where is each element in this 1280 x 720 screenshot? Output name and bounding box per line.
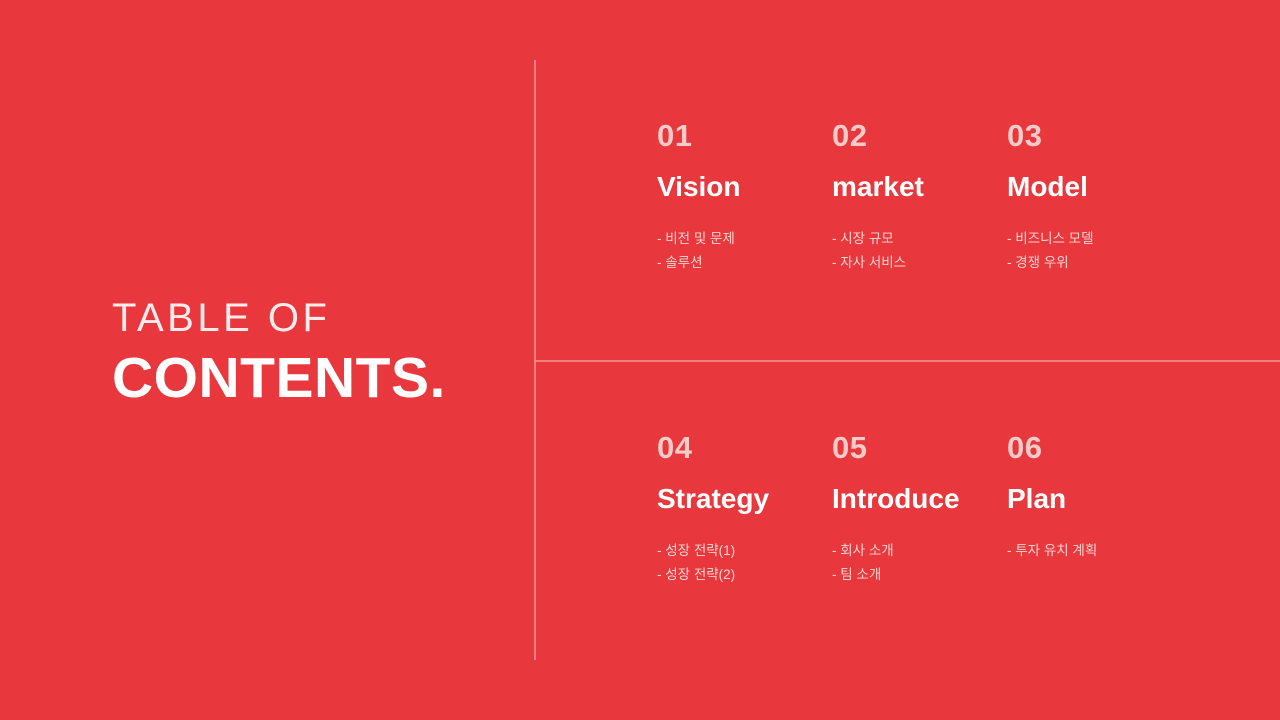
toc-subitem: - 비전 및 문제 [657, 227, 832, 251]
page-title-line-2: CONTENTS. [112, 347, 512, 411]
page-title: TABLE OF CONTENTS. [112, 296, 512, 411]
toc-subitem: - 경쟁 우위 [1007, 251, 1182, 275]
contents-grid: 01 Vision - 비전 및 문제 - 솔루션 02 market - 시장… [657, 120, 1257, 620]
toc-number-01: 01 [657, 120, 832, 151]
toc-sublist-02: - 시장 규모 - 자사 서비스 [832, 227, 1007, 275]
toc-subitem: - 성장 전략(1) [657, 539, 832, 563]
toc-number-02: 02 [832, 120, 1007, 151]
toc-item-01[interactable]: 01 Vision - 비전 및 문제 - 솔루션 [657, 120, 832, 275]
toc-item-03[interactable]: 03 Model - 비즈니스 모델 - 경쟁 우위 [1007, 120, 1182, 275]
toc-item-06[interactable]: 06 Plan - 투자 유치 계획 [1007, 432, 1182, 587]
toc-subitem: - 투자 유치 계획 [1007, 539, 1182, 563]
toc-item-04[interactable]: 04 Strategy - 성장 전략(1) - 성장 전략(2) [657, 432, 832, 587]
toc-sublist-06: - 투자 유치 계획 [1007, 539, 1182, 563]
toc-title-01: Vision [657, 173, 832, 201]
toc-number-06: 06 [1007, 432, 1182, 463]
toc-number-05: 05 [832, 432, 1007, 463]
toc-title-03: Model [1007, 173, 1182, 201]
toc-subitem: - 시장 규모 [832, 227, 1007, 251]
toc-item-02[interactable]: 02 market - 시장 규모 - 자사 서비스 [832, 120, 1007, 275]
toc-subitem: - 솔루션 [657, 251, 832, 275]
toc-sublist-04: - 성장 전략(1) - 성장 전략(2) [657, 539, 832, 587]
slide-canvas: TABLE OF CONTENTS. 01 Vision - 비전 및 문제 -… [0, 0, 1280, 720]
contents-row-top: 01 Vision - 비전 및 문제 - 솔루션 02 market - 시장… [657, 120, 1257, 275]
contents-row-bottom: 04 Strategy - 성장 전략(1) - 성장 전략(2) 05 Int… [657, 432, 1257, 587]
toc-title-02: market [832, 173, 1007, 201]
toc-subitem: - 비즈니스 모델 [1007, 227, 1182, 251]
toc-sublist-01: - 비전 및 문제 - 솔루션 [657, 227, 832, 275]
toc-title-06: Plan [1007, 485, 1182, 513]
toc-number-04: 04 [657, 432, 832, 463]
toc-title-04: Strategy [657, 485, 832, 513]
page-title-line-1: TABLE OF [112, 296, 512, 341]
toc-subitem: - 성장 전략(2) [657, 563, 832, 587]
toc-subitem: - 자사 서비스 [832, 251, 1007, 275]
toc-subitem: - 회사 소개 [832, 539, 1007, 563]
toc-title-05: Introduce [832, 485, 1007, 513]
toc-number-03: 03 [1007, 120, 1182, 151]
toc-sublist-03: - 비즈니스 모델 - 경쟁 우위 [1007, 227, 1182, 275]
toc-sublist-05: - 회사 소개 - 팀 소개 [832, 539, 1007, 587]
toc-item-05[interactable]: 05 Introduce - 회사 소개 - 팀 소개 [832, 432, 1007, 587]
toc-subitem: - 팀 소개 [832, 563, 1007, 587]
